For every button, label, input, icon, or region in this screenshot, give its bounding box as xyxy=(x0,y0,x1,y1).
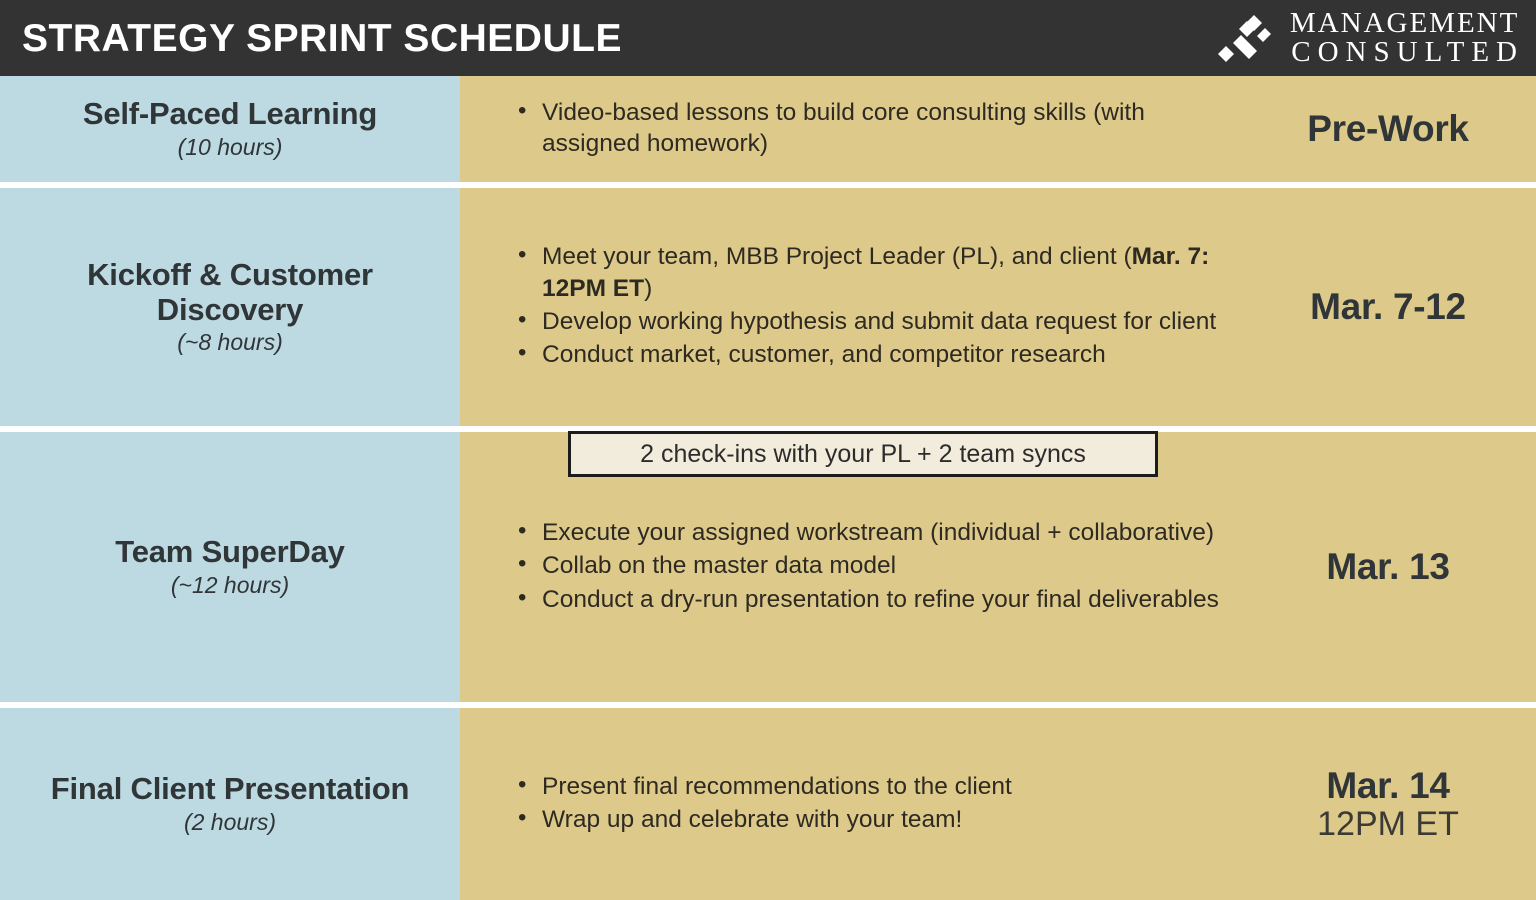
date-main: Mar. 14 xyxy=(1326,765,1449,807)
list-item: Develop working hypothesis and submit da… xyxy=(518,306,1230,337)
activities-cell: Video-based lessons to build core consul… xyxy=(460,76,1240,182)
activities-list: Execute your assigned workstream (indivi… xyxy=(460,517,1240,617)
table-row: Final Client Presentation (2 hours) Pres… xyxy=(0,708,1536,900)
list-item-text-pre: Meet your team, MBB Project Leader (PL),… xyxy=(542,243,1132,270)
date-cell: Mar. 14 12PM ET xyxy=(1240,708,1536,900)
checkins-callout-text: 2 check-ins with your PL + 2 team syncs xyxy=(640,442,1086,467)
brand-line-consulted: CONSULTED xyxy=(1285,38,1524,67)
table-row: Kickoff & Customer Discovery (~8 hours) … xyxy=(0,188,1536,426)
activities-list: Meet your team, MBB Project Leader (PL),… xyxy=(460,241,1240,372)
list-item: Conduct a dry-run presentation to refine… xyxy=(518,584,1230,615)
list-item: Present final recommendations to the cli… xyxy=(518,771,1230,802)
phase-hours: (~12 hours) xyxy=(171,572,289,599)
phase-name: Final Client Presentation xyxy=(51,772,409,807)
phase-name: Team SuperDay xyxy=(115,535,344,570)
date-main: Mar. 7-12 xyxy=(1310,286,1466,328)
header-bar: STRATEGY SPRINT SCHEDULE MANAGEMENT CONS… xyxy=(0,0,1536,76)
list-item: Conduct market, customer, and competitor… xyxy=(518,339,1230,370)
list-item: Video-based lessons to build core consul… xyxy=(518,97,1230,160)
list-item: Wrap up and celebrate with your team! xyxy=(518,804,1230,835)
table-row: Self-Paced Learning (10 hours) Video-bas… xyxy=(0,76,1536,182)
phase-hours: (2 hours) xyxy=(184,809,276,836)
list-item-text-post: ) xyxy=(644,275,652,302)
date-cell: Mar. 7-12 xyxy=(1240,188,1536,426)
brand-wordmark: MANAGEMENT CONSULTED xyxy=(1285,9,1524,67)
schedule-page: STRATEGY SPRINT SCHEDULE MANAGEMENT CONS… xyxy=(0,0,1536,900)
date-main: Mar. 13 xyxy=(1326,546,1449,588)
phase-hours: (~8 hours) xyxy=(177,329,282,356)
activities-cell: Present final recommendations to the cli… xyxy=(460,708,1240,900)
phase-name: Self-Paced Learning xyxy=(83,97,377,132)
phase-name: Kickoff & Customer Discovery xyxy=(14,258,446,327)
date-sub: 12PM ET xyxy=(1317,805,1459,844)
date-cell: Pre-Work xyxy=(1240,76,1536,182)
list-item: Meet your team, MBB Project Leader (PL),… xyxy=(518,241,1230,304)
brand-logo: MANAGEMENT CONSULTED xyxy=(1209,9,1536,67)
list-item: Execute your assigned workstream (indivi… xyxy=(518,517,1230,548)
page-title: STRATEGY SPRINT SCHEDULE xyxy=(0,19,622,58)
brand-line-management: MANAGEMENT xyxy=(1290,9,1519,38)
checkins-callout: 2 check-ins with your PL + 2 team syncs xyxy=(568,431,1158,477)
date-cell: Mar. 13 xyxy=(1240,432,1536,702)
activities-cell: Meet your team, MBB Project Leader (PL),… xyxy=(460,188,1240,426)
activities-list: Present final recommendations to the cli… xyxy=(460,771,1240,838)
date-main: Pre-Work xyxy=(1307,108,1468,150)
phase-cell: Team SuperDay (~12 hours) xyxy=(0,432,460,702)
schedule-table: Self-Paced Learning (10 hours) Video-bas… xyxy=(0,76,1536,900)
phase-hours: (10 hours) xyxy=(178,134,283,161)
activities-list: Video-based lessons to build core consul… xyxy=(460,97,1240,162)
phase-cell: Self-Paced Learning (10 hours) xyxy=(0,76,460,182)
list-item: Collab on the master data model xyxy=(518,550,1230,581)
management-consulted-diamonds-logo-icon xyxy=(1209,10,1271,66)
phase-cell: Final Client Presentation (2 hours) xyxy=(0,708,460,900)
phase-cell: Kickoff & Customer Discovery (~8 hours) xyxy=(0,188,460,426)
